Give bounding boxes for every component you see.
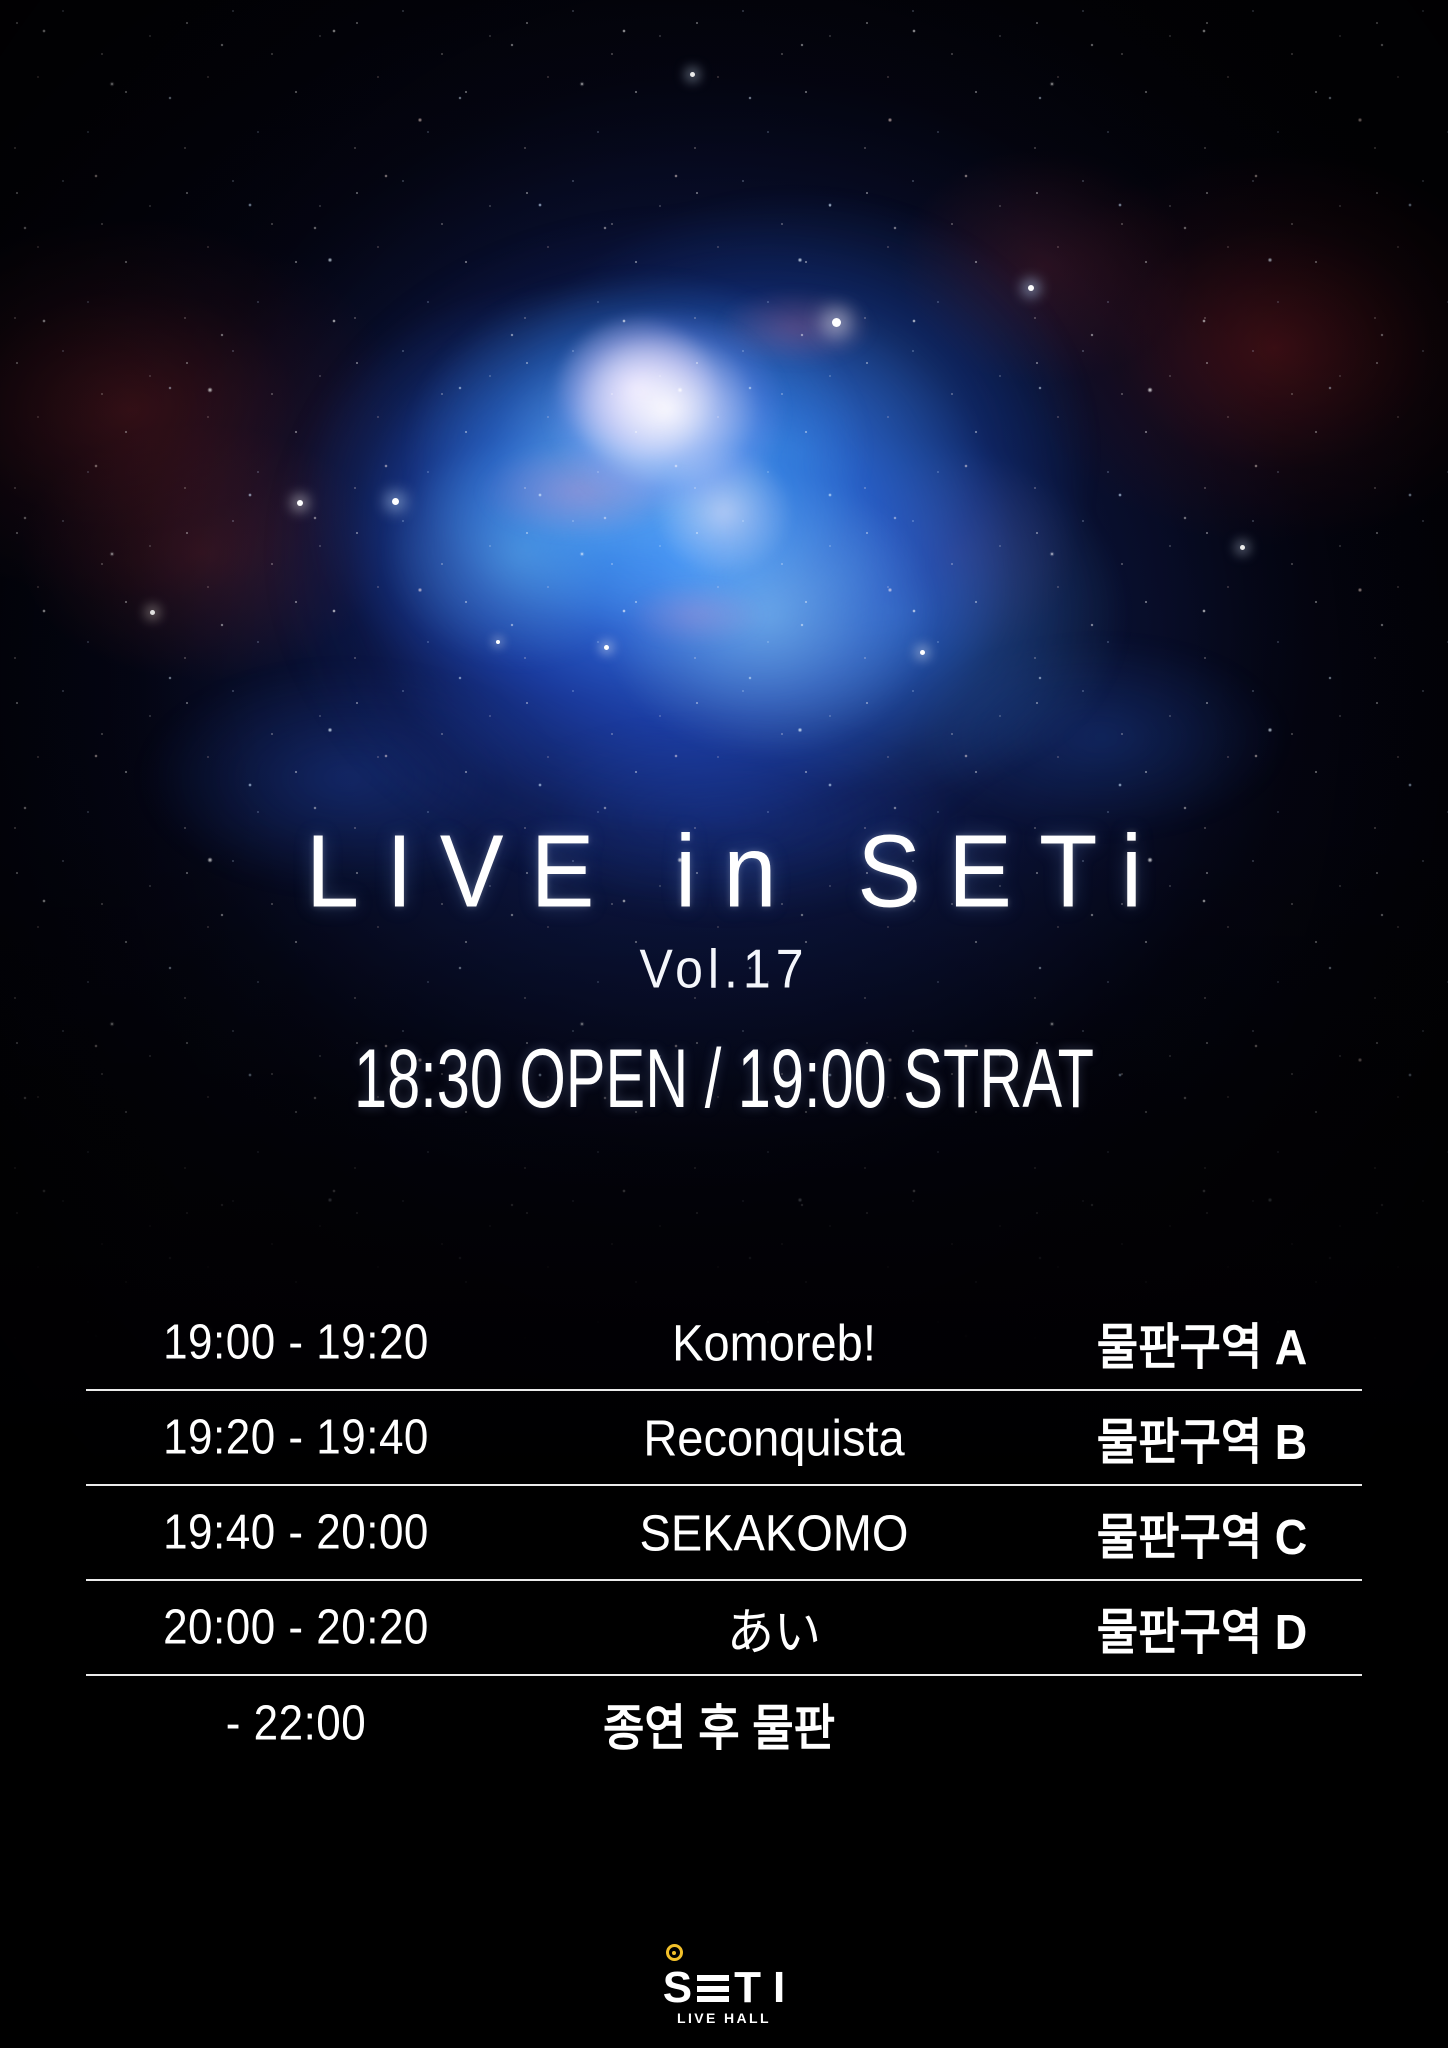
closing-time: - 22:00 [86, 1696, 506, 1752]
timetable: 19:00 - 19:20 Komoreb! 물판구역 A 19:20 - 19… [86, 1296, 1362, 1771]
row-time: 19:40 - 20:00 [86, 1505, 506, 1561]
logo-subtitle: LIVE HALL [677, 2010, 771, 2026]
venue-logo: S T I LIVE HALL [0, 1961, 1448, 2026]
row-time: 19:00 - 19:20 [86, 1315, 506, 1371]
page-title: LIVE in SETi [0, 820, 1448, 923]
row-time: 19:20 - 19:40 [86, 1410, 506, 1466]
table-row-closing: - 22:00 종연 후 물판 [86, 1676, 1362, 1771]
logo-letter-i: I [773, 1969, 785, 2007]
row-act: Komoreb! [506, 1313, 1042, 1372]
row-zone: 물판구역 C [1042, 1497, 1362, 1569]
row-time: 20:00 - 20:20 [86, 1600, 506, 1656]
logo-letter-s: S [663, 1969, 692, 2007]
open-start-time: 18:30 OPEN / 19:00 STRAT [29, 1032, 1419, 1127]
row-zone: 물판구역 B [1042, 1402, 1362, 1474]
volume-label: Vol.17 [0, 937, 1448, 1001]
row-zone: 물판구역 D [1042, 1592, 1362, 1664]
logo-mark: S T I [663, 1961, 785, 2007]
table-row: 19:00 - 19:20 Komoreb! 물판구역 A [86, 1296, 1362, 1391]
seti-ring-icon [666, 1944, 683, 1961]
row-act: SEKAKOMO [506, 1503, 1042, 1562]
row-act: あい [506, 1590, 1042, 1665]
title-block: LIVE in SETi Vol.17 [0, 826, 1448, 998]
closing-note: 종연 후 물판 [506, 1688, 1042, 1760]
table-row: 20:00 - 20:20 あい 물판구역 D [86, 1581, 1362, 1676]
table-row: 19:40 - 20:00 SEKAKOMO 물판구역 C [86, 1486, 1362, 1581]
row-act: Reconquista [506, 1408, 1042, 1467]
logo-letter-t: T [734, 1969, 761, 2007]
table-row: 19:20 - 19:40 Reconquista 물판구역 B [86, 1391, 1362, 1486]
logo-letter-e-bars [697, 1975, 729, 2007]
row-zone: 물판구역 A [1042, 1307, 1362, 1379]
